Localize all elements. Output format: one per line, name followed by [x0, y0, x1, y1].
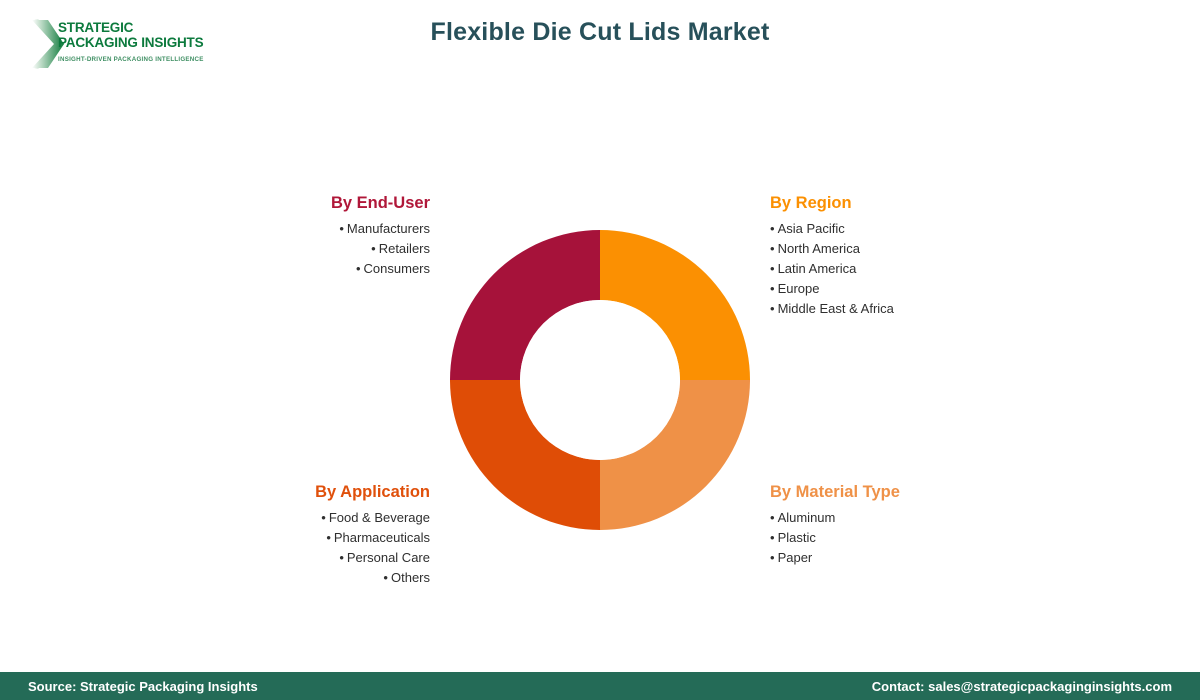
category-list-end-user: •Manufacturers •Retailers •Consumers: [180, 219, 430, 279]
infographic-page: STRATEGIC PACKAGING INSIGHTS INSIGHT-DRI…: [0, 0, 1200, 700]
category-title-material-type: By Material Type: [770, 482, 1050, 502]
brand-tagline: INSIGHT-DRIVEN PACKAGING INTELLIGENCE: [58, 56, 204, 63]
donut-hole: [520, 300, 680, 460]
bullet-icon: •: [371, 241, 379, 256]
bullet-icon: •: [770, 281, 778, 296]
list-item-label: Food & Beverage: [329, 510, 430, 525]
list-item: •Retailers: [180, 239, 430, 259]
list-item: •Plastic: [770, 528, 1050, 548]
list-item-label: Consumers: [364, 261, 430, 276]
category-list-application: •Food & Beverage •Pharmaceuticals •Perso…: [180, 508, 430, 588]
list-item: •Manufacturers: [180, 219, 430, 239]
donut-chart: [450, 230, 750, 530]
bullet-icon: •: [770, 530, 778, 545]
list-item: •Personal Care: [180, 548, 430, 568]
footer-contact: Contact: sales@strategicpackaginginsight…: [872, 679, 1172, 694]
list-item-label: Paper: [778, 550, 813, 565]
footer-source: Source: Strategic Packaging Insights: [28, 679, 258, 694]
bullet-icon: •: [339, 550, 347, 565]
list-item: •Food & Beverage: [180, 508, 430, 528]
category-block-region: By Region •Asia Pacific •North America •…: [770, 193, 1050, 319]
list-item-label: Retailers: [379, 241, 430, 256]
page-title: Flexible Die Cut Lids Market: [0, 18, 1200, 47]
list-item: •Middle East & Africa: [770, 299, 1050, 319]
bullet-icon: •: [339, 221, 347, 236]
list-item: •Aluminum: [770, 508, 1050, 528]
footer-bar: Source: Strategic Packaging Insights Con…: [0, 672, 1200, 700]
list-item: •North America: [770, 239, 1050, 259]
category-title-end-user: By End-User: [180, 193, 430, 213]
bullet-icon: •: [770, 510, 778, 525]
category-title-region: By Region: [770, 193, 1050, 213]
list-item: •Asia Pacific: [770, 219, 1050, 239]
category-title-application: By Application: [180, 482, 430, 502]
list-item-label: Personal Care: [347, 550, 430, 565]
bullet-icon: •: [770, 261, 778, 276]
category-block-application: By Application •Food & Beverage •Pharmac…: [180, 482, 430, 588]
list-item: •Europe: [770, 279, 1050, 299]
list-item-label: Pharmaceuticals: [334, 530, 430, 545]
category-list-region: •Asia Pacific •North America •Latin Amer…: [770, 219, 1050, 319]
bullet-icon: •: [770, 241, 778, 256]
category-block-material-type: By Material Type •Aluminum •Plastic •Pap…: [770, 482, 1050, 568]
list-item: •Paper: [770, 548, 1050, 568]
list-item-label: Manufacturers: [347, 221, 430, 236]
list-item: •Others: [180, 568, 430, 588]
bullet-icon: •: [770, 550, 778, 565]
list-item: •Pharmaceuticals: [180, 528, 430, 548]
bullet-icon: •: [321, 510, 329, 525]
bullet-icon: •: [770, 221, 778, 236]
list-item-label: North America: [778, 241, 860, 256]
list-item-label: Aluminum: [778, 510, 836, 525]
bullet-icon: •: [383, 570, 391, 585]
category-block-end-user: By End-User •Manufacturers •Retailers •C…: [180, 193, 430, 279]
bullet-icon: •: [356, 261, 364, 276]
list-item: •Latin America: [770, 259, 1050, 279]
list-item-label: Latin America: [778, 261, 857, 276]
list-item-label: Middle East & Africa: [778, 301, 894, 316]
list-item-label: Plastic: [778, 530, 816, 545]
list-item-label: Asia Pacific: [778, 221, 845, 236]
list-item: •Consumers: [180, 259, 430, 279]
list-item-label: Others: [391, 570, 430, 585]
bullet-icon: •: [326, 530, 334, 545]
list-item-label: Europe: [778, 281, 820, 296]
category-list-material-type: •Aluminum •Plastic •Paper: [770, 508, 1050, 568]
bullet-icon: •: [770, 301, 778, 316]
